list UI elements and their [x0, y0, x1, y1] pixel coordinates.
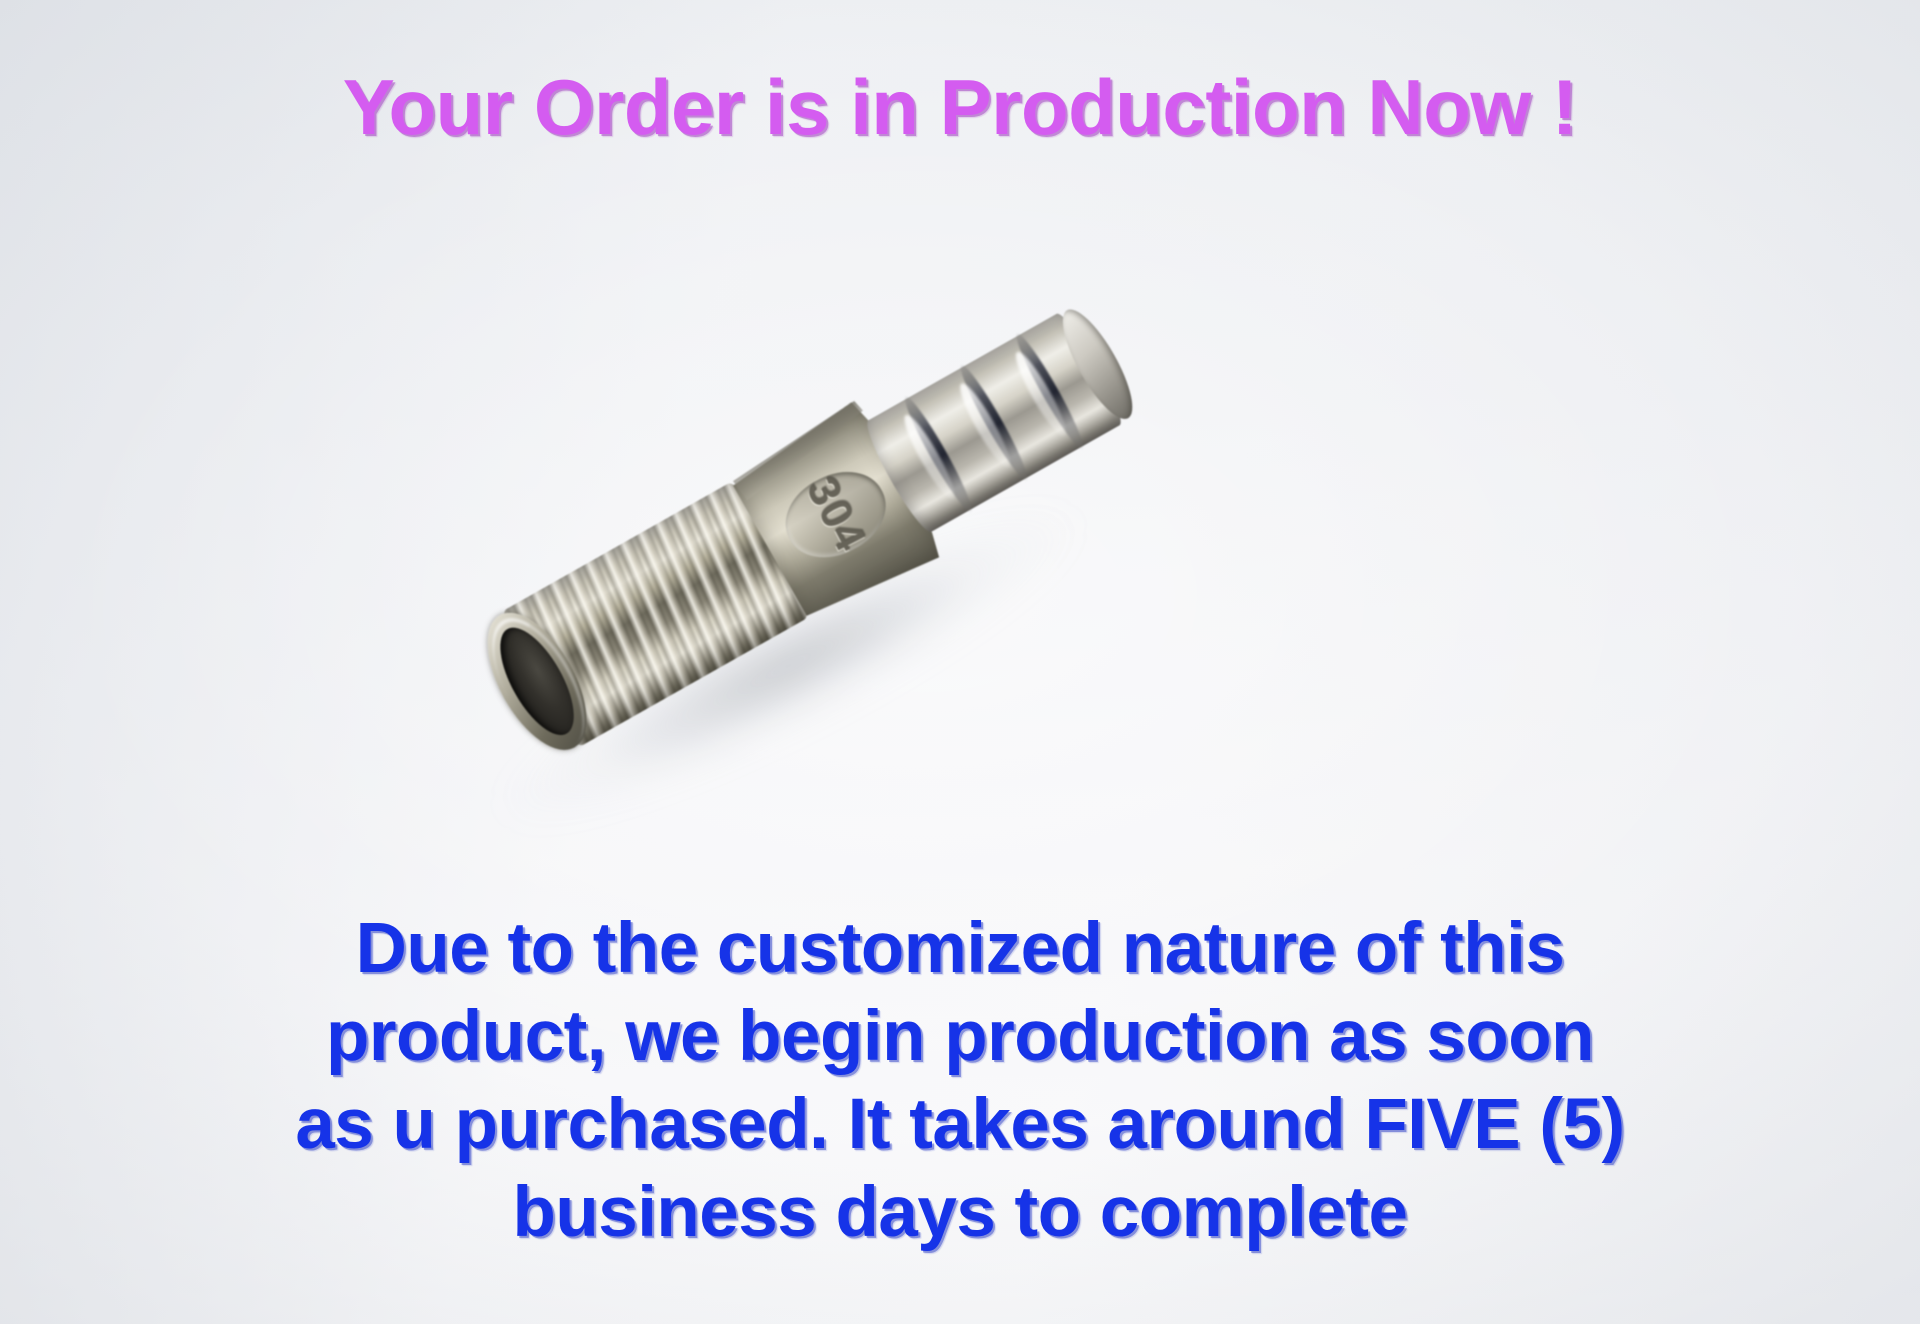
body-copy-line: Due to the customized nature of this [0, 905, 1920, 993]
headline-text: Your Order is in Production Now ! [0, 68, 1920, 148]
body-copy-line: product, we begin production as soon [0, 993, 1920, 1081]
product-body-group: 304 [356, 115, 1264, 924]
body-copy-line: business days to complete [0, 1169, 1920, 1257]
body-copy-line: as u purchased. It takes around FIVE (5) [0, 1081, 1920, 1169]
body-copy-block: Due to the customized nature of this pro… [0, 905, 1920, 1257]
promo-image-canvas: Your Order is in Production Now ! 304 [0, 0, 1920, 1324]
product-photo: 304 [430, 270, 1190, 770]
